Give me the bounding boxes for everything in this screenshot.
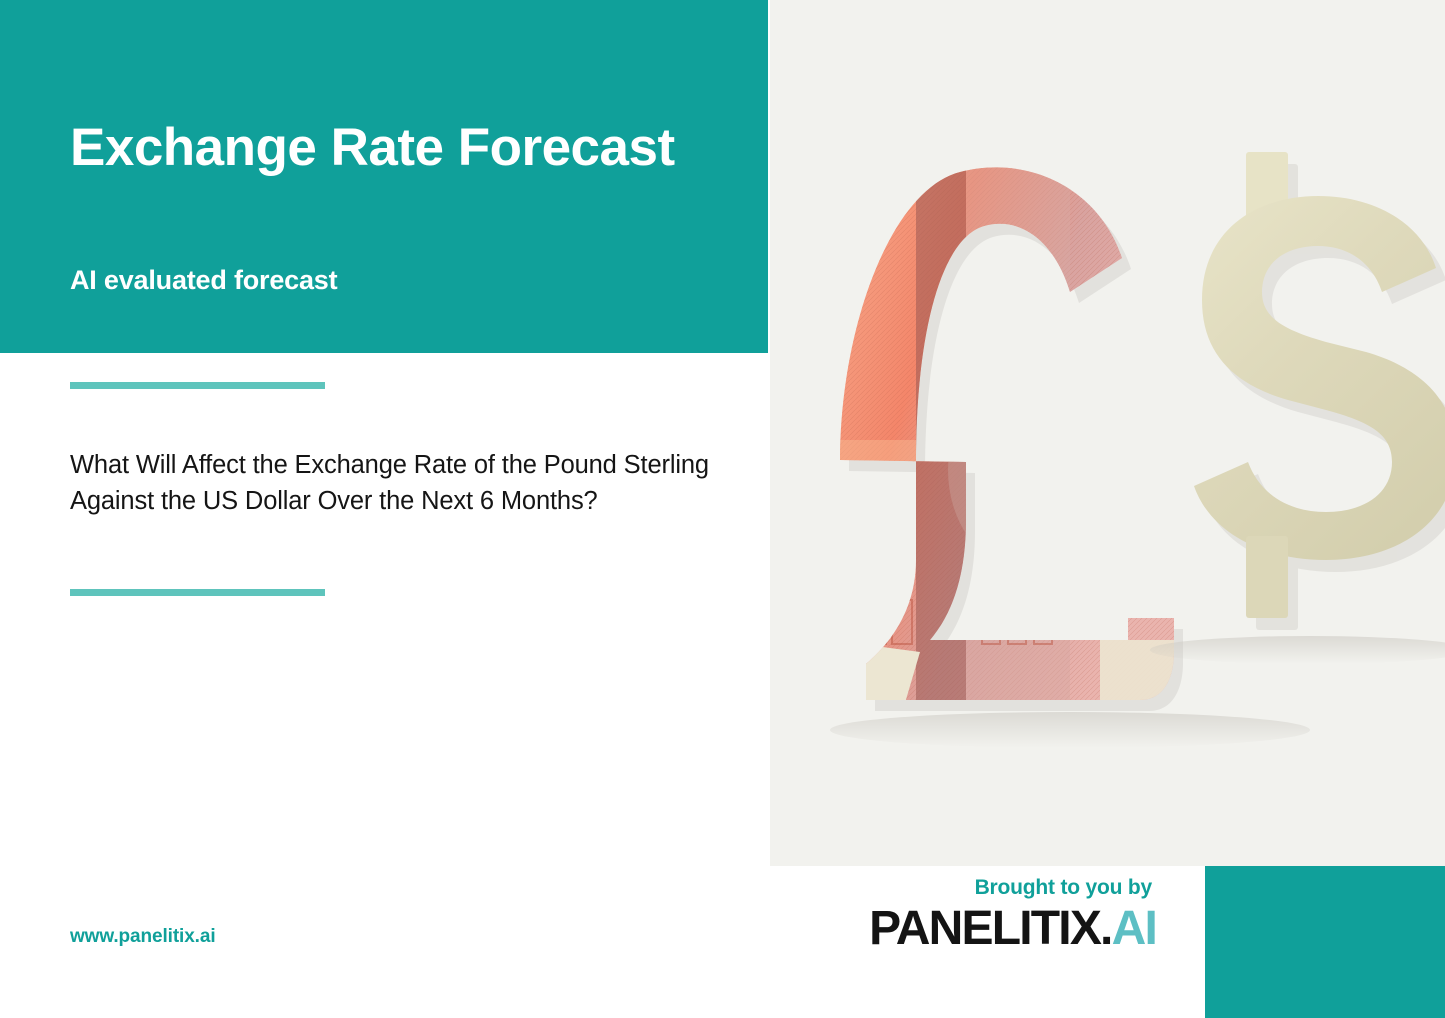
site-url[interactable]: www.panelitix.ai — [70, 926, 216, 948]
brand-name-dot: . — [1100, 902, 1112, 955]
currency-origami-photo: 50 ds 8£ — [770, 0, 1445, 866]
poster-page: Exchange Rate Forecast AI evaluated fore… — [0, 0, 1445, 1018]
corner-accent-block — [1205, 866, 1445, 1018]
currency-symbols-illustration: 50 ds 8£ — [770, 0, 1445, 866]
brand-kicker: Brought to you by — [869, 877, 1156, 898]
divider-rule-top — [70, 382, 325, 389]
brand-name-accent: AI — [1112, 902, 1156, 955]
brand-lockup: Brought to you by PANELITIX.AI — [869, 877, 1156, 953]
brand-name-dark: PANELITIX — [869, 902, 1100, 955]
brand-wordmark[interactable]: PANELITIX.AI — [869, 905, 1156, 953]
lede-question: What Will Affect the Exchange Rate of th… — [70, 447, 730, 519]
page-subtitle: AI evaluated forecast — [70, 265, 337, 296]
page-title: Exchange Rate Forecast — [70, 118, 730, 178]
divider-rule-bottom — [70, 589, 325, 596]
